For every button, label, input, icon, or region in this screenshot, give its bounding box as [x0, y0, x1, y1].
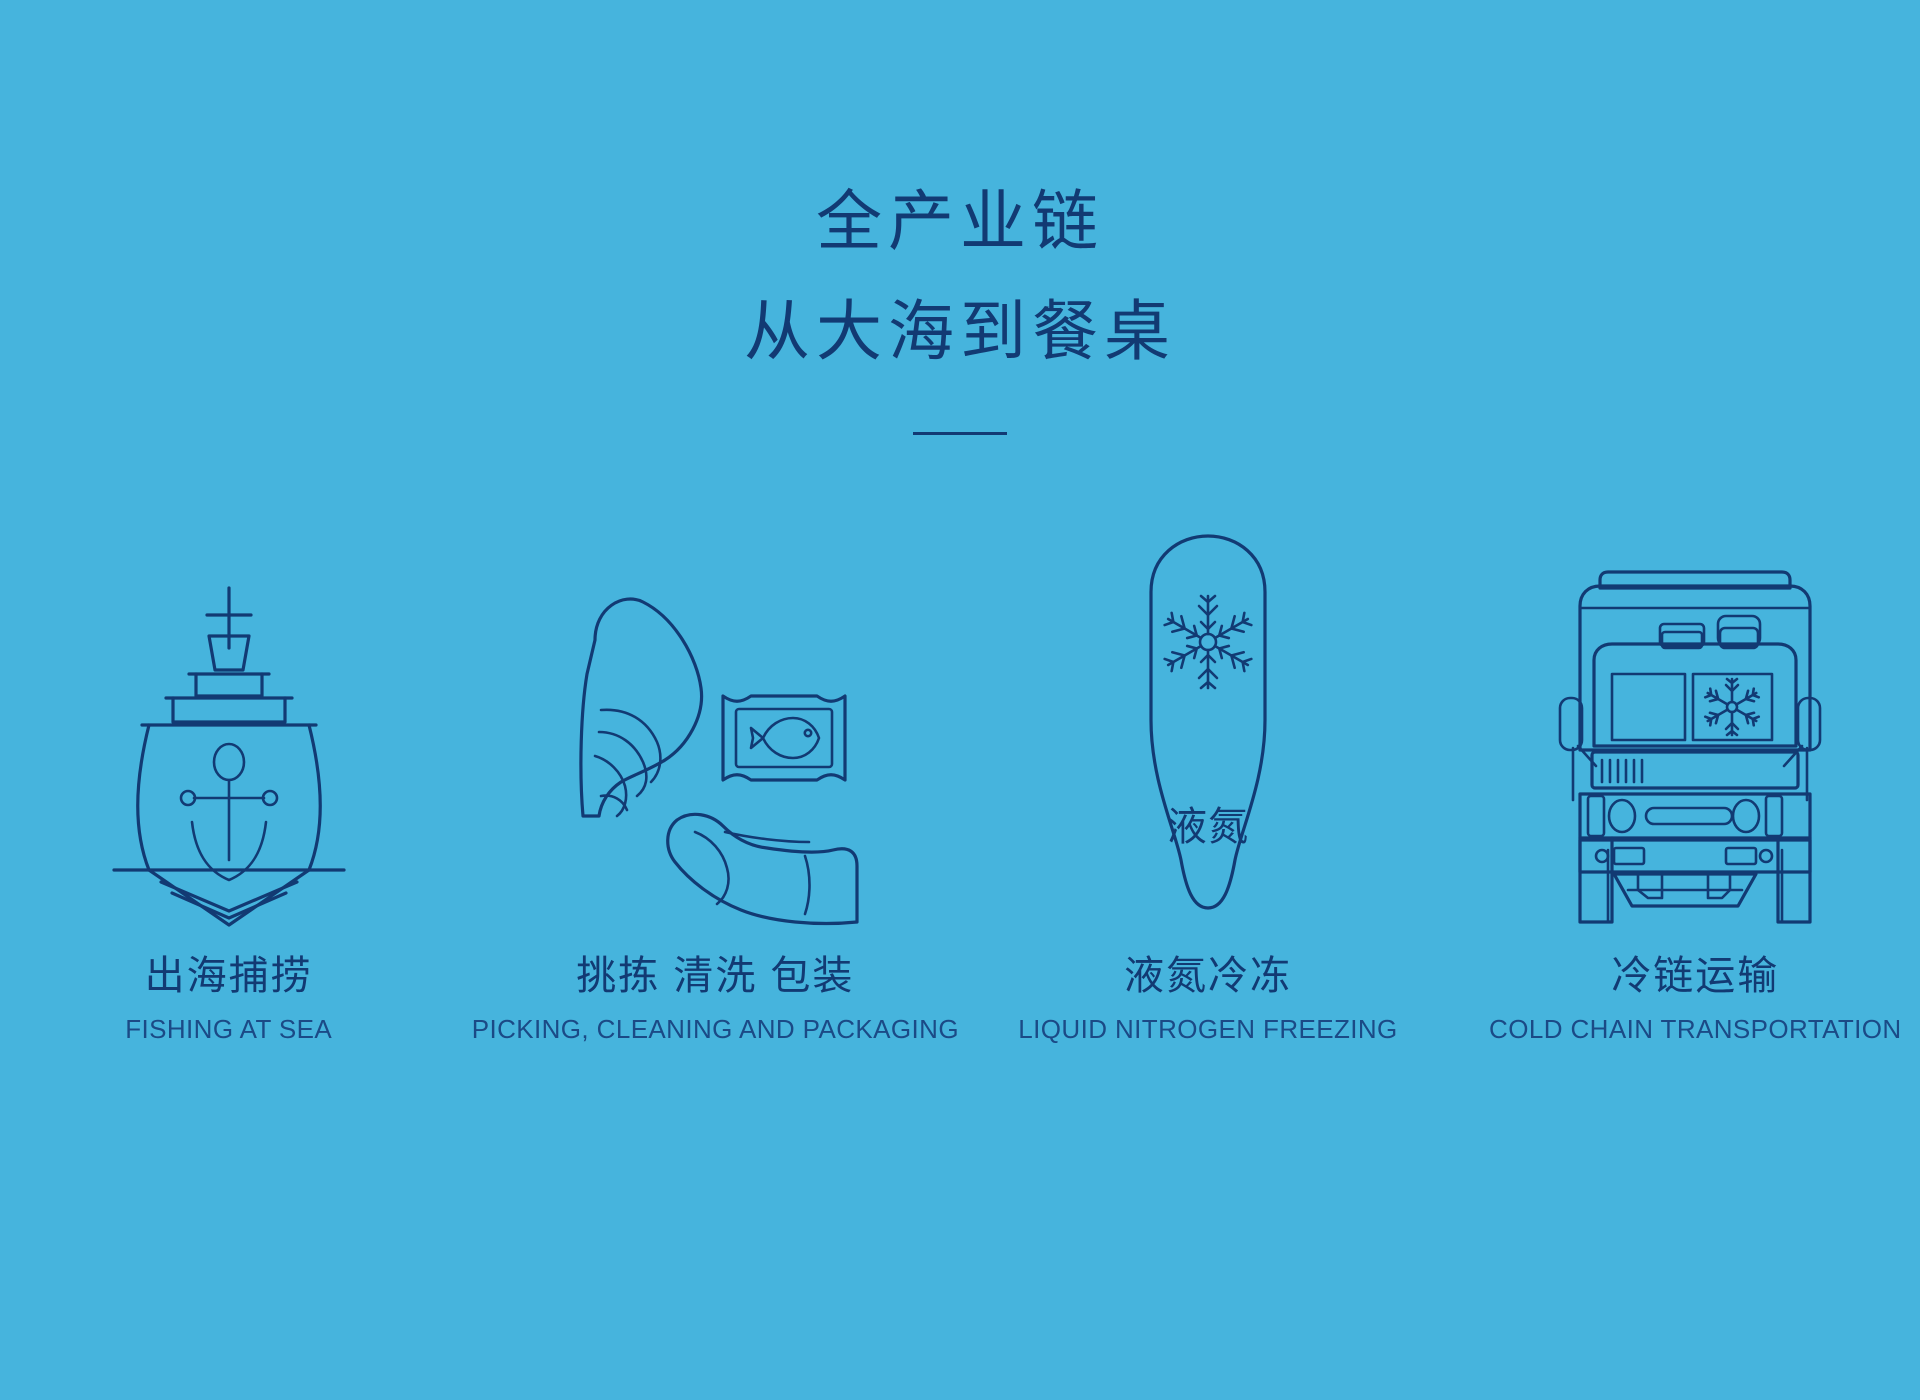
caption-fishing: 出海捕捞 FISHING AT SEA [125, 952, 332, 1045]
liquid-nitrogen-tank-icon: 液氮 [1113, 530, 1303, 930]
caption-cn-transport: 冷链运输 [1489, 952, 1902, 1000]
snowflake-icon [1164, 596, 1253, 688]
tank-label-text: 液氮 [1167, 805, 1249, 849]
infographic-page: 全产业链 从大海到餐桌 [0, 0, 1920, 1400]
caption-en-fishing: FISHING AT SEA [125, 1014, 332, 1045]
caption-en-freezing: LIQUID NITROGEN FREEZING [1018, 1014, 1397, 1045]
caption-cn-fishing: 出海捕捞 [125, 952, 332, 1000]
refrigerated-truck-icon [1550, 550, 1840, 930]
hands-with-fish-package-icon-wrap [565, 530, 865, 930]
fishing-boat-icon [104, 570, 354, 930]
caption-en-picking: PICKING, CLEANING AND PACKAGING [472, 1014, 959, 1045]
fishing-boat-icon-wrap [104, 530, 354, 930]
caption-picking: 挑拣 清洗 包装 PICKING, CLEANING AND PACKAGING [472, 952, 959, 1045]
process-steps: 出海捕捞 FISHING AT SEA [0, 530, 1920, 1045]
step-transport: 冷链运输 COLD CHAIN TRANSPORTATION [1459, 530, 1920, 1045]
caption-cn-picking: 挑拣 清洗 包装 [472, 952, 959, 1000]
caption-cn-freezing: 液氮冷冻 [1018, 952, 1397, 1000]
hands-with-fish-package-icon [565, 570, 865, 930]
step-freezing: 液氮 液氮冷冻 LIQUID NITROGEN FREEZING [971, 530, 1444, 1045]
title-divider [913, 432, 1007, 435]
page-title-line-2: 从大海到餐桌 [0, 285, 1920, 381]
caption-en-transport: COLD CHAIN TRANSPORTATION [1489, 1014, 1902, 1045]
liquid-nitrogen-tank-icon-wrap: 液氮 [1113, 530, 1303, 930]
step-fishing: 出海捕捞 FISHING AT SEA [0, 530, 465, 1045]
caption-freezing: 液氮冷冻 LIQUID NITROGEN FREEZING [1018, 952, 1397, 1045]
refrigerated-truck-icon-wrap [1550, 530, 1840, 930]
page-header: 全产业链 从大海到餐桌 [0, 0, 1920, 435]
snowflake-icon [1705, 679, 1759, 735]
page-title-line-1: 全产业链 [0, 175, 1920, 271]
caption-transport: 冷链运输 COLD CHAIN TRANSPORTATION [1489, 952, 1902, 1045]
step-picking: 挑拣 清洗 包装 PICKING, CLEANING AND PACKAGING [475, 530, 955, 1045]
